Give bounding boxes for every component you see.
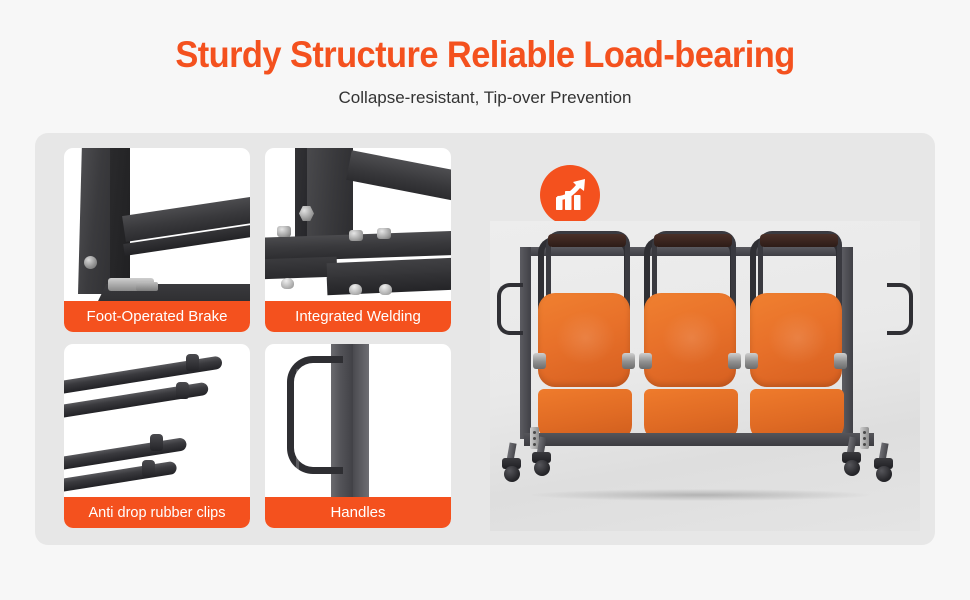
trolley-handle-right — [887, 283, 913, 335]
folded-chair — [532, 231, 636, 436]
trolley-handle-left — [497, 283, 523, 335]
feature-tile-grid: Foot-Operated Brake Integrated Welding — [64, 148, 465, 532]
folding-chair-trolley-photo — [490, 221, 920, 531]
rubber-clip-icon — [186, 354, 199, 371]
caster-wheel — [502, 443, 524, 483]
rubber-clip-icon — [150, 434, 163, 451]
caster-wheel — [874, 443, 896, 483]
tile-caption: Foot-Operated Brake — [64, 301, 250, 332]
feature-tile-handles[interactable]: Handles — [265, 344, 451, 528]
handle-icon — [287, 356, 343, 474]
caster-wheel — [842, 437, 864, 477]
tile-caption: Handles — [265, 497, 451, 528]
growth-chart-arrow-icon — [540, 165, 600, 225]
tile-caption: Anti drop rubber clips — [64, 497, 250, 528]
caster-wheel — [532, 437, 554, 477]
page-title: Sturdy Structure Reliable Load-bearing — [34, 36, 936, 75]
feature-panel: Foot-Operated Brake Integrated Welding — [35, 133, 935, 545]
feature-tile-anti-drop-rubber-clips[interactable]: Anti drop rubber clips — [64, 344, 250, 528]
header: Sturdy Structure Reliable Load-bearing C… — [0, 0, 970, 108]
tile-caption: Integrated Welding — [265, 301, 451, 332]
folded-chair — [744, 231, 848, 436]
feature-tile-integrated-welding[interactable]: Integrated Welding — [265, 148, 451, 332]
bolt-icon — [84, 256, 97, 269]
feature-tile-foot-operated-brake[interactable]: Foot-Operated Brake — [64, 148, 250, 332]
page-subtitle: Collapse-resistant, Tip-over Prevention — [0, 88, 970, 108]
rubber-clip-icon — [142, 460, 155, 477]
folded-chair — [638, 231, 742, 436]
rubber-clip-icon — [176, 382, 189, 399]
